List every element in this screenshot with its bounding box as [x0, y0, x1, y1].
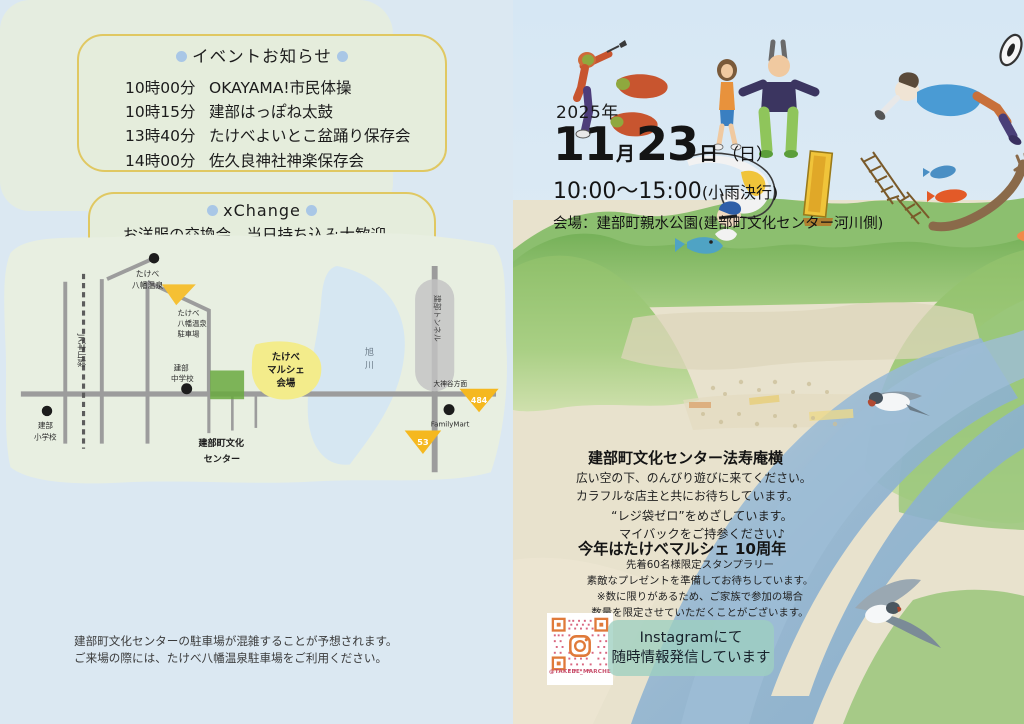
venue-label: マルシェ — [267, 365, 305, 376]
detail-heading: 建部町文化センター法寿庵横 — [588, 447, 783, 468]
junior-high-marker-dot — [181, 383, 192, 394]
route-484-label: 484 — [471, 396, 488, 405]
onsen-parking-label: 駐車場 — [178, 330, 200, 339]
onsen-label: 八幡温泉 — [132, 280, 163, 290]
onsen-parking-label: たけべ — [178, 309, 200, 318]
onsen-parking-label: 八幡温泉 — [178, 319, 208, 328]
detail-lines: 広い空の下、のんびり遊びに来てください。 カラフルな店主と共にお待ちしています。 — [576, 469, 812, 506]
date-hero-block: 2025年 11 月 23 日 （日） 10:00～15:00(小雨決行) 会場… — [553, 98, 883, 233]
river-label: 旭 — [365, 346, 374, 358]
anniversary-lines: 先着60名様限定スタンプラリー 素敵なプレゼントを準備してお待ちしています。 ※… — [566, 557, 834, 622]
detail-line-2: カラフルな店主と共にお待ちしています。 — [576, 487, 812, 505]
instagram-line-1: Instagramにて — [611, 628, 770, 648]
direction-label: 大神谷方面 — [433, 379, 467, 388]
instagram-callout[interactable]: Instagramにて 随時情報発信しています — [608, 620, 774, 676]
anniversary-line-2: 素敵なプレゼントを準備してお待ちしています。 — [566, 573, 834, 589]
access-map-card: 旭 川 JR津山線 たけべ — [0, 0, 393, 211]
familymart-label: FamilyMart — [431, 420, 470, 429]
event-time-range: 10:00～15:00(小雨決行) — [553, 173, 883, 205]
map-parking-note: 建部町文化センターの駐車場が混雑することが予想されます。 ご来場の際には、たけべ… — [74, 633, 397, 668]
venue-label: 会場 — [276, 377, 295, 389]
date-main-line: 11 月 23 日 （日） — [553, 121, 883, 167]
map-note-line-2: ご来場の際には、たけべ八幡温泉駐車場をご利用ください。 — [74, 650, 397, 667]
junior-high-label: 建部 — [174, 362, 190, 372]
access-map: 旭 川 JR津山線 たけべ — [0, 0, 513, 724]
onsen-marker-dot — [149, 253, 159, 263]
venue-label: たけべ — [272, 352, 301, 363]
rain-note: (小雨決行) — [702, 183, 779, 202]
river-label: 川 — [365, 361, 374, 371]
eco-bag-line-1: “レジ袋ゼロ”をめざしています。 — [586, 507, 818, 525]
culture-center-label: 建部町文化 — [197, 437, 244, 449]
instagram-line-2: 随時情報発信しています — [611, 648, 770, 668]
date-day-unit: 日 — [699, 139, 718, 166]
instagram-handle: @TAKEBE_MARCHE — [547, 669, 613, 675]
familymart-marker-dot — [444, 404, 455, 415]
elementary-marker-dot — [42, 406, 52, 416]
park-block-shape — [210, 370, 244, 399]
date-weekday: （日） — [722, 140, 773, 165]
map-note-line-1: 建部町文化センターの駐車場が混雑することが予想されます。 — [74, 633, 397, 650]
anniversary-heading: 今年はたけべマルシェ 10周年 — [578, 537, 786, 559]
elementary-label: 建部 — [38, 420, 54, 430]
jr-line-label: JR津山線 — [76, 333, 86, 368]
left-info-panel: イベントお知らせ 10時00分OKAYAMA!市民体操 10時15分建部はっぽね… — [0, 0, 513, 724]
route-53-label: 53 — [417, 437, 429, 447]
junior-high-label: 中学校 — [171, 373, 194, 383]
anniversary-line-3: ※数に限りがあるため、ご家族で参加の場合 — [566, 589, 834, 605]
venue-line: 会場：建部町親水公園(建部町文化センター河川側) — [553, 212, 883, 233]
instagram-text: Instagramにて 随時情報発信しています — [611, 628, 770, 668]
date-month-number: 11 — [553, 121, 615, 167]
culture-center-label: センター — [204, 453, 241, 465]
date-month-unit: 月 — [616, 139, 635, 166]
poster-root: イベントお知らせ 10時00分OKAYAMA!市民体操 10時15分建部はっぽね… — [0, 0, 1024, 724]
detail-line-1: 広い空の下、のんびり遊びに来てください。 — [576, 469, 812, 487]
tunnel-label: 建部トンネル — [433, 295, 443, 342]
anniversary-line-1: 先着60名様限定スタンプラリー — [566, 557, 834, 573]
time-range-text: 10:00～15:00 — [553, 179, 702, 204]
qr-code-graphic — [549, 615, 611, 677]
elementary-label: 小学校 — [34, 432, 57, 442]
onsen-label: たけべ — [136, 270, 160, 279]
date-day-number: 23 — [636, 121, 698, 167]
